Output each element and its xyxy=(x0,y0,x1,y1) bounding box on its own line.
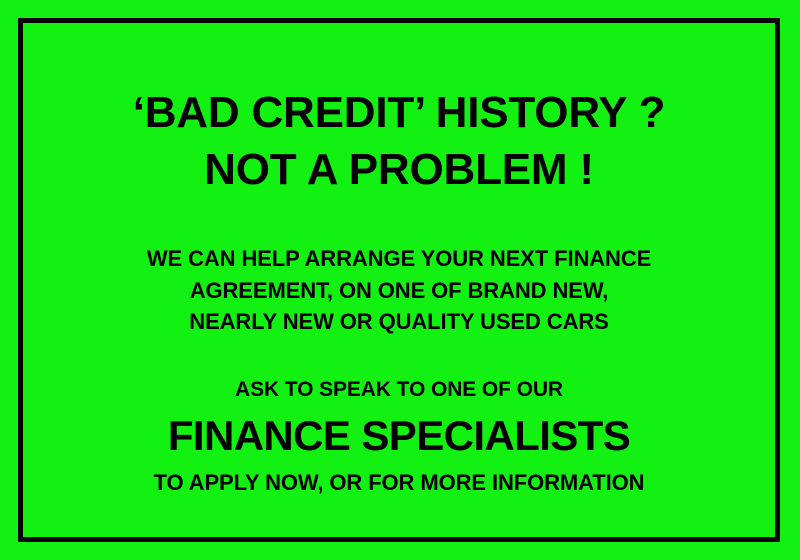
headline-block: ‘BAD CREDIT’ HISTORY ? NOT A PROBLEM ! xyxy=(23,84,775,198)
body-line-2: AGREEMENT, ON ONE OF BRAND NEW, xyxy=(23,275,775,306)
call-to-action-block: ASK TO SPEAK TO ONE OF OUR FINANCE SPECI… xyxy=(23,376,775,497)
cta-closing-line: TO APPLY NOW, OR FOR MORE INFORMATION xyxy=(23,469,775,498)
body-line-3: NEARLY NEW OR QUALITY USED CARS xyxy=(23,306,775,337)
poster-content: ‘BAD CREDIT’ HISTORY ? NOT A PROBLEM ! W… xyxy=(23,23,775,537)
cta-lead-in-line: ASK TO SPEAK TO ONE OF OUR xyxy=(23,376,775,404)
advertisement-poster: ‘BAD CREDIT’ HISTORY ? NOT A PROBLEM ! W… xyxy=(0,0,800,560)
headline-line-2: NOT A PROBLEM ! xyxy=(23,141,775,198)
body-line-1: WE CAN HELP ARRANGE YOUR NEXT FINANCE xyxy=(23,243,775,274)
cta-feature-heading: FINANCE SPECIALISTS xyxy=(23,410,775,461)
body-paragraph: WE CAN HELP ARRANGE YOUR NEXT FINANCE AG… xyxy=(23,243,775,337)
headline-line-1: ‘BAD CREDIT’ HISTORY ? xyxy=(23,84,775,141)
